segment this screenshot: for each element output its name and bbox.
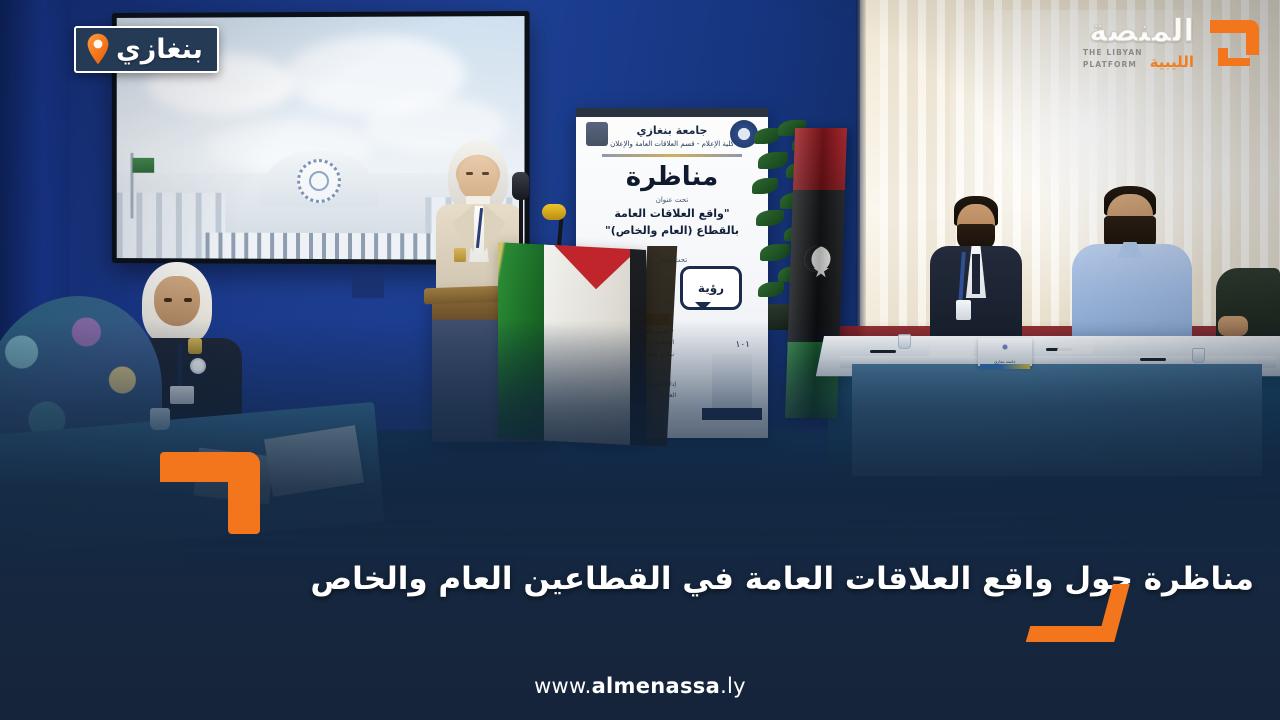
banner-top-bar [576,108,768,117]
brand-en-line1: THE LIBYAN [1083,47,1143,58]
banner-topic-line2: بالقطاع (العام والخاص)" [605,224,739,237]
location-badge: بنغازي [74,26,219,73]
palestine-flag [498,242,646,446]
banner-bubble-text: رؤية [683,269,739,307]
panel-table-front [852,364,1262,476]
banner-speech-bubble-icon: رؤية [680,266,742,310]
panelist-left [930,196,1022,346]
banner-topic: "واقع العلاقات العامة بالقطاع (العام وال… [584,206,760,239]
url-name: almenassa [592,674,721,698]
banner-university: جامعة بنغازي [576,124,768,137]
panelist-right [1072,186,1192,348]
speaker-face [458,156,498,200]
brand-en-line2: PLATFORM [1083,59,1143,70]
brand-text: المنصة THE LIBYAN PLATFORM الليبية [1083,16,1194,70]
pen [1140,358,1166,361]
audience-pin-badge [190,358,206,374]
map-pin-icon [86,33,110,65]
panelist-badge [956,300,971,320]
brand-name-arabic-secondary: الليبية [1150,55,1194,70]
url-prefix: www. [534,674,591,698]
brand-subline: THE LIBYAN PLATFORM الليبية [1083,47,1194,70]
brand-name-arabic: المنصة [1089,16,1194,47]
name-placard: جامعة بنغازي [978,338,1032,366]
brand-mark-icon [1200,14,1262,72]
audience-lanyard [178,344,182,388]
orange-check-accent-icon [1028,584,1136,642]
orange-bracket-accent-icon [160,452,260,534]
speaker-badge [454,248,466,262]
paper-sheet [1056,340,1095,354]
website-url: www.almenassa.ly [0,674,1280,698]
water-glass [898,334,911,349]
microphone-icon-2 [542,204,566,220]
news-card: جامعة بنغازي كلية الإعلام - قسم العلاقات… [0,0,1280,720]
paper-sheet [928,342,975,356]
banner-topic-line1: "واقع العلاقات العامة [614,207,729,220]
banner-dates: ١٠١ [735,340,750,350]
location-label: بنغازي [116,36,203,63]
banner-faculty: كلية الإعلام - قسم العلاقات العامة والإع… [576,140,768,148]
wall-corner [856,0,866,360]
banner-title: مناظرة [576,162,768,192]
audience-badge [170,386,194,404]
banner-divider [602,154,742,157]
banner-graphic [712,354,752,420]
banner-under-title-label: تحت عنوان [576,196,768,204]
brand-name-english: THE LIBYAN PLATFORM [1083,47,1143,70]
microphone-icon [512,172,529,200]
pen [870,350,896,353]
foreground-cup [150,408,170,430]
water-glass [1192,348,1205,363]
url-tld: .ly [720,674,746,698]
wall-socket [352,276,384,298]
brand-logo: المنصة THE LIBYAN PLATFORM الليبية [1083,14,1262,72]
